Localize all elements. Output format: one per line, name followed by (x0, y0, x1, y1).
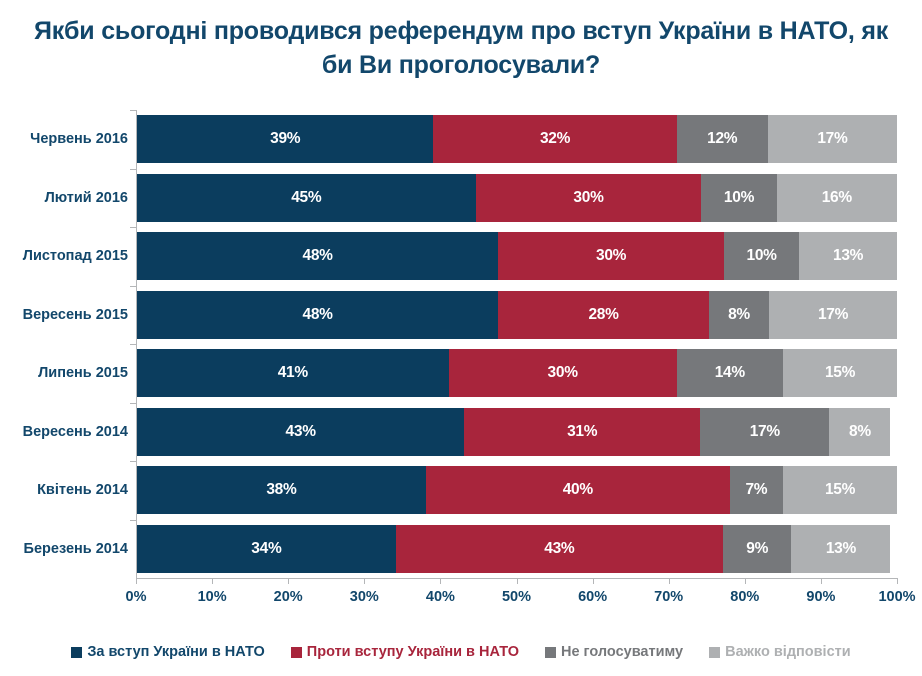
x-axis-tick-label: 10% (198, 589, 227, 605)
bar-segment-value-label: 17% (818, 306, 848, 324)
bar-row: 39%32%12%17% (137, 115, 897, 163)
bar-segment: 17% (769, 291, 897, 339)
bar-segment: 30% (476, 174, 702, 222)
bar-segment: 10% (701, 174, 776, 222)
legend-swatch-icon (545, 647, 556, 658)
y-axis-tick (130, 169, 136, 170)
bar-row: 43%31%17%8% (137, 408, 897, 456)
y-axis-label: Липень 2015 (0, 365, 128, 381)
bar-segment: 38% (137, 466, 426, 514)
bar-segment-value-label: 41% (278, 364, 308, 382)
x-axis-tick-label: 30% (350, 589, 379, 605)
bar-segment-value-label: 14% (715, 364, 745, 382)
bar-segment: 32% (433, 115, 676, 163)
bar-segment: 30% (449, 349, 677, 397)
x-axis-tick-label: 80% (730, 589, 759, 605)
bar-segment: 43% (396, 525, 723, 573)
bar-segment: 40% (426, 466, 730, 514)
bar-segment: 8% (829, 408, 890, 456)
bar-segment-value-label: 48% (303, 247, 333, 265)
bar-segment: 45% (137, 174, 476, 222)
bar-segment-value-label: 39% (270, 130, 300, 148)
bar-segment-value-label: 17% (817, 130, 847, 148)
bar-segment-value-label: 13% (826, 540, 856, 558)
legend-label: За вступ України в НАТО (87, 644, 264, 660)
bar-segment-value-label: 30% (573, 189, 603, 207)
bar-segment: 8% (709, 291, 769, 339)
bar-segment: 39% (137, 115, 433, 163)
bar-segment: 12% (677, 115, 768, 163)
x-axis-tick (364, 578, 365, 584)
bar-segment: 15% (783, 349, 897, 397)
x-axis-tick (440, 578, 441, 584)
x-axis-tick-label: 70% (654, 589, 683, 605)
bar-segment: 17% (768, 115, 897, 163)
x-axis-tick (821, 578, 822, 584)
legend-swatch-icon (709, 647, 720, 658)
bar-segment: 13% (799, 232, 897, 280)
x-axis-tick (745, 578, 746, 584)
y-axis-label: Вересень 2014 (0, 424, 128, 440)
bar-row: 34%43%9%13% (137, 525, 897, 573)
x-axis-tick (593, 578, 594, 584)
bar-segment-value-label: 34% (251, 540, 281, 558)
bar-segment: 17% (700, 408, 829, 456)
y-axis-tick (130, 344, 136, 345)
bar-segment-value-label: 8% (849, 423, 871, 441)
bar-segment-value-label: 32% (540, 130, 570, 148)
y-axis-tick (130, 520, 136, 521)
legend-swatch-icon (291, 647, 302, 658)
chart-title: Якби сьогодні проводився референдум про … (30, 14, 892, 82)
bar-segment-value-label: 9% (746, 540, 768, 558)
bar-segment-value-label: 30% (596, 247, 626, 265)
bar-segment-value-label: 31% (567, 423, 597, 441)
legend-label: Важко відповісти (725, 644, 851, 660)
bar-segment-value-label: 12% (707, 130, 737, 148)
bar-segment-value-label: 43% (286, 423, 316, 441)
bar-segment-value-label: 30% (548, 364, 578, 382)
bar-segment-value-label: 17% (750, 423, 780, 441)
bar-row: 48%30%10%13% (137, 232, 897, 280)
bar-segment-value-label: 10% (724, 189, 754, 207)
bar-segment-value-label: 38% (266, 481, 296, 499)
bar-segment: 31% (464, 408, 700, 456)
x-axis-tick-label: 50% (502, 589, 531, 605)
legend-item[interactable]: За вступ України в НАТО (71, 644, 264, 660)
x-axis-tick (288, 578, 289, 584)
bar-row: 41%30%14%15% (137, 349, 897, 397)
bar-segment-value-label: 8% (728, 306, 750, 324)
bar-segment-value-label: 10% (747, 247, 777, 265)
legend-item[interactable]: Важко відповісти (709, 644, 851, 660)
y-axis-tick (130, 110, 136, 111)
bar-segment: 30% (498, 232, 724, 280)
y-axis-category-labels: Червень 2016Лютий 2016Листопад 2015Верес… (0, 110, 128, 578)
x-axis-tick (897, 578, 898, 584)
x-axis-tick-label: 60% (578, 589, 607, 605)
bar-segment: 9% (723, 525, 791, 573)
y-axis-tick (130, 461, 136, 462)
x-axis-tick-label: 20% (274, 589, 303, 605)
bar-segment: 41% (137, 349, 449, 397)
y-axis-tick (130, 403, 136, 404)
y-axis-label: Березень 2014 (0, 541, 128, 557)
legend-label: Проти вступу України в НАТО (307, 644, 519, 660)
bar-segment-value-label: 43% (544, 540, 574, 558)
y-axis-label: Вересень 2015 (0, 307, 128, 323)
plot-area: 39%32%12%17%45%30%10%16%48%30%10%13%48%2… (136, 110, 897, 578)
bar-segment-value-label: 13% (833, 247, 863, 265)
y-axis-tick (130, 286, 136, 287)
chart-legend: За вступ України в НАТОПроти вступу Укра… (0, 644, 922, 660)
bar-segment-value-label: 45% (291, 189, 321, 207)
y-axis-label: Листопад 2015 (0, 248, 128, 264)
x-axis-tick (517, 578, 518, 584)
bar-segment-value-label: 48% (303, 306, 333, 324)
bar-row: 38%40%7%15% (137, 466, 897, 514)
y-axis-tick (130, 227, 136, 228)
legend-swatch-icon (71, 647, 82, 658)
bar-segment: 34% (137, 525, 396, 573)
bar-segment-value-label: 28% (588, 306, 618, 324)
bar-segment-value-label: 15% (825, 364, 855, 382)
x-axis-tick (212, 578, 213, 584)
bar-segment: 48% (137, 232, 498, 280)
x-axis-tick-label: 0% (126, 589, 147, 605)
legend-label: Не голосуватиму (561, 644, 683, 660)
x-axis-tick-label: 100% (878, 589, 915, 605)
y-axis-label: Квітень 2014 (0, 482, 128, 498)
x-axis-tick-label: 40% (426, 589, 455, 605)
bar-segment: 15% (783, 466, 897, 514)
x-axis-tick (669, 578, 670, 584)
bar-segment-value-label: 16% (822, 189, 852, 207)
x-axis-tick-label: 90% (806, 589, 835, 605)
legend-item[interactable]: Проти вступу України в НАТО (291, 644, 519, 660)
x-axis-tick (136, 578, 137, 584)
bar-segment: 28% (498, 291, 709, 339)
bar-segment: 48% (137, 291, 498, 339)
bar-segment-value-label: 7% (745, 481, 767, 499)
bar-segment: 7% (730, 466, 783, 514)
y-axis-label: Червень 2016 (0, 131, 128, 147)
bar-row: 48%28%8%17% (137, 291, 897, 339)
bar-row: 45%30%10%16% (137, 174, 897, 222)
y-axis-label: Лютий 2016 (0, 190, 128, 206)
bar-segment: 16% (777, 174, 897, 222)
bar-segment: 14% (677, 349, 783, 397)
chart-container: Якби сьогодні проводився референдум про … (0, 0, 922, 676)
bar-segment-value-label: 40% (563, 481, 593, 499)
legend-item[interactable]: Не голосуватиму (545, 644, 683, 660)
bar-segment: 43% (137, 408, 464, 456)
bar-segment: 13% (791, 525, 890, 573)
bar-segment-value-label: 15% (825, 481, 855, 499)
bar-segment: 10% (724, 232, 799, 280)
